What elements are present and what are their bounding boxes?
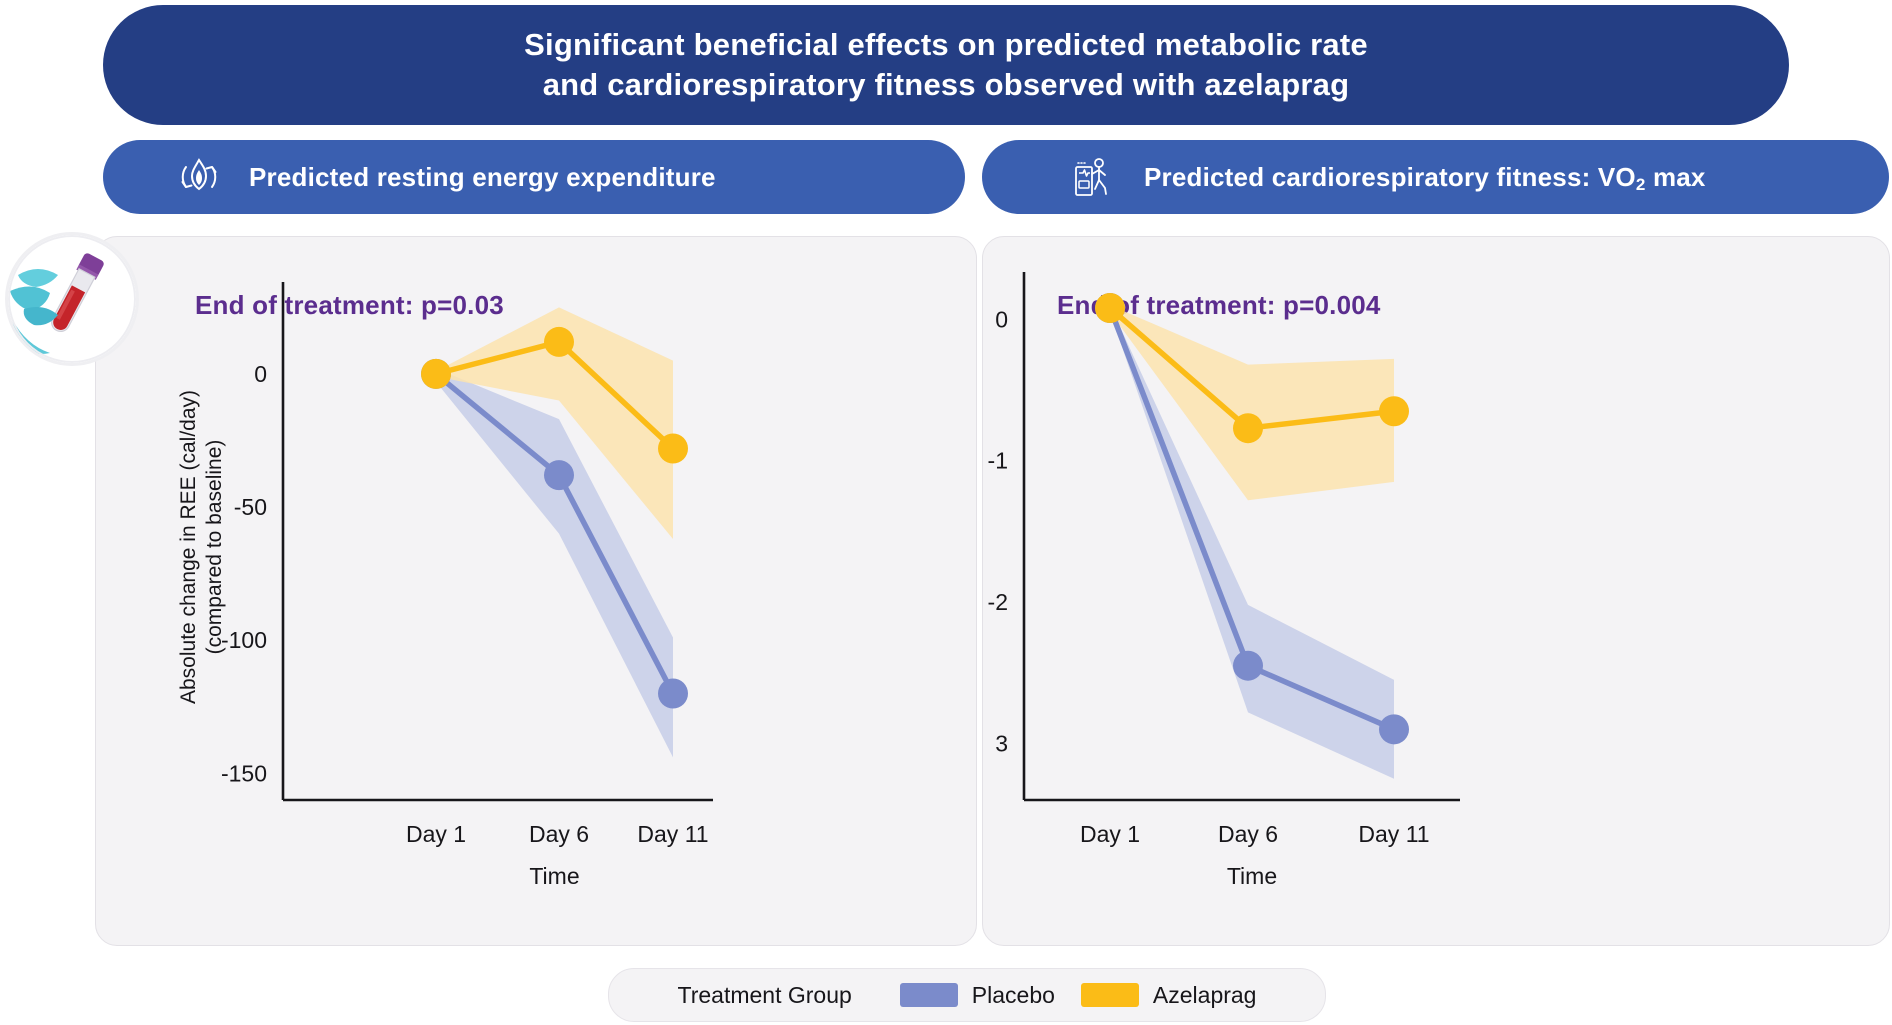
y-tick-label: -100 <box>221 627 267 653</box>
legend-title: Treatment Group <box>678 982 852 1009</box>
chart-vo2: 0-1-23Day 1Day 6Day 11TimeAbsolute chang… <box>982 236 1888 944</box>
y-tick-label: -50 <box>234 494 267 520</box>
y-axis-title-line-1: Absolute change in REE (cal/day) <box>177 390 200 704</box>
legend-item-azelaprag: Azelaprag <box>1081 982 1257 1009</box>
panel-header-label-ree: Predicted resting energy expenditure <box>249 162 716 193</box>
data-point-azelaprag <box>1379 396 1409 426</box>
y-axis-title-line-2: (compared to baseline) <box>203 440 226 655</box>
x-tick-label: Day 1 <box>1080 821 1140 847</box>
data-point-azelaprag <box>544 327 574 357</box>
slide-title-bar: Significant beneficial effects on predic… <box>103 5 1789 125</box>
x-axis-title: Time <box>1227 863 1277 889</box>
page-title-line-1: Significant beneficial effects on predic… <box>524 25 1368 65</box>
legend-label-azelaprag: Azelaprag <box>1153 982 1257 1009</box>
x-tick-label: Day 6 <box>1218 821 1278 847</box>
x-tick-label: Day 11 <box>1358 821 1429 847</box>
data-point-azelaprag <box>1233 413 1263 443</box>
data-point-azelaprag <box>1095 293 1125 323</box>
data-point-azelaprag <box>421 359 451 389</box>
panel-header-label-vo2-post: max <box>1646 162 1706 192</box>
panel-header-vo2: Predicted cardiorespiratory fitness: VO2… <box>982 140 1889 214</box>
y-tick-label: 0 <box>254 361 267 387</box>
page-title: Significant beneficial effects on predic… <box>524 25 1368 106</box>
x-axis-title: Time <box>529 863 579 889</box>
x-tick-label: Day 6 <box>529 821 589 847</box>
y-tick-label: -2 <box>988 589 1008 615</box>
data-point-placebo <box>544 460 574 490</box>
legend-item-placebo: Placebo <box>900 982 1055 1009</box>
x-tick-label: Day 1 <box>406 821 466 847</box>
panel-header-label-vo2: Predicted cardiorespiratory fitness: VO2… <box>1144 162 1706 193</box>
metabolism-flame-icon <box>173 151 225 203</box>
legend: Treatment Group Placebo Azelaprag <box>608 968 1326 1022</box>
x-tick-label: Day 11 <box>637 821 708 847</box>
data-point-azelaprag <box>658 433 688 463</box>
legend-swatch-placebo <box>900 983 958 1007</box>
data-point-placebo <box>1379 714 1409 744</box>
chart-ree: 0-50-100-150Day 1Day 6Day 11TimeAbsolute… <box>95 236 975 944</box>
y-tick-label: -1 <box>988 448 1008 474</box>
panel-header-label-vo2-sub: 2 <box>1636 175 1646 194</box>
y-tick-label: 0 <box>995 306 1008 332</box>
data-point-placebo <box>658 678 688 708</box>
treadmill-exercise-test-icon <box>1068 151 1120 203</box>
legend-label-placebo: Placebo <box>972 982 1055 1009</box>
data-point-placebo <box>1233 651 1263 681</box>
page-title-line-2: and cardiorespiratory fitness observed w… <box>524 65 1368 105</box>
panel-header-label-vo2-pre: Predicted cardiorespiratory fitness: VO <box>1144 162 1636 192</box>
legend-swatch-azelaprag <box>1081 983 1139 1007</box>
y-tick-label: 3 <box>995 730 1008 756</box>
panel-header-ree: Predicted resting energy expenditure <box>103 140 965 214</box>
y-tick-label: -150 <box>221 760 267 786</box>
